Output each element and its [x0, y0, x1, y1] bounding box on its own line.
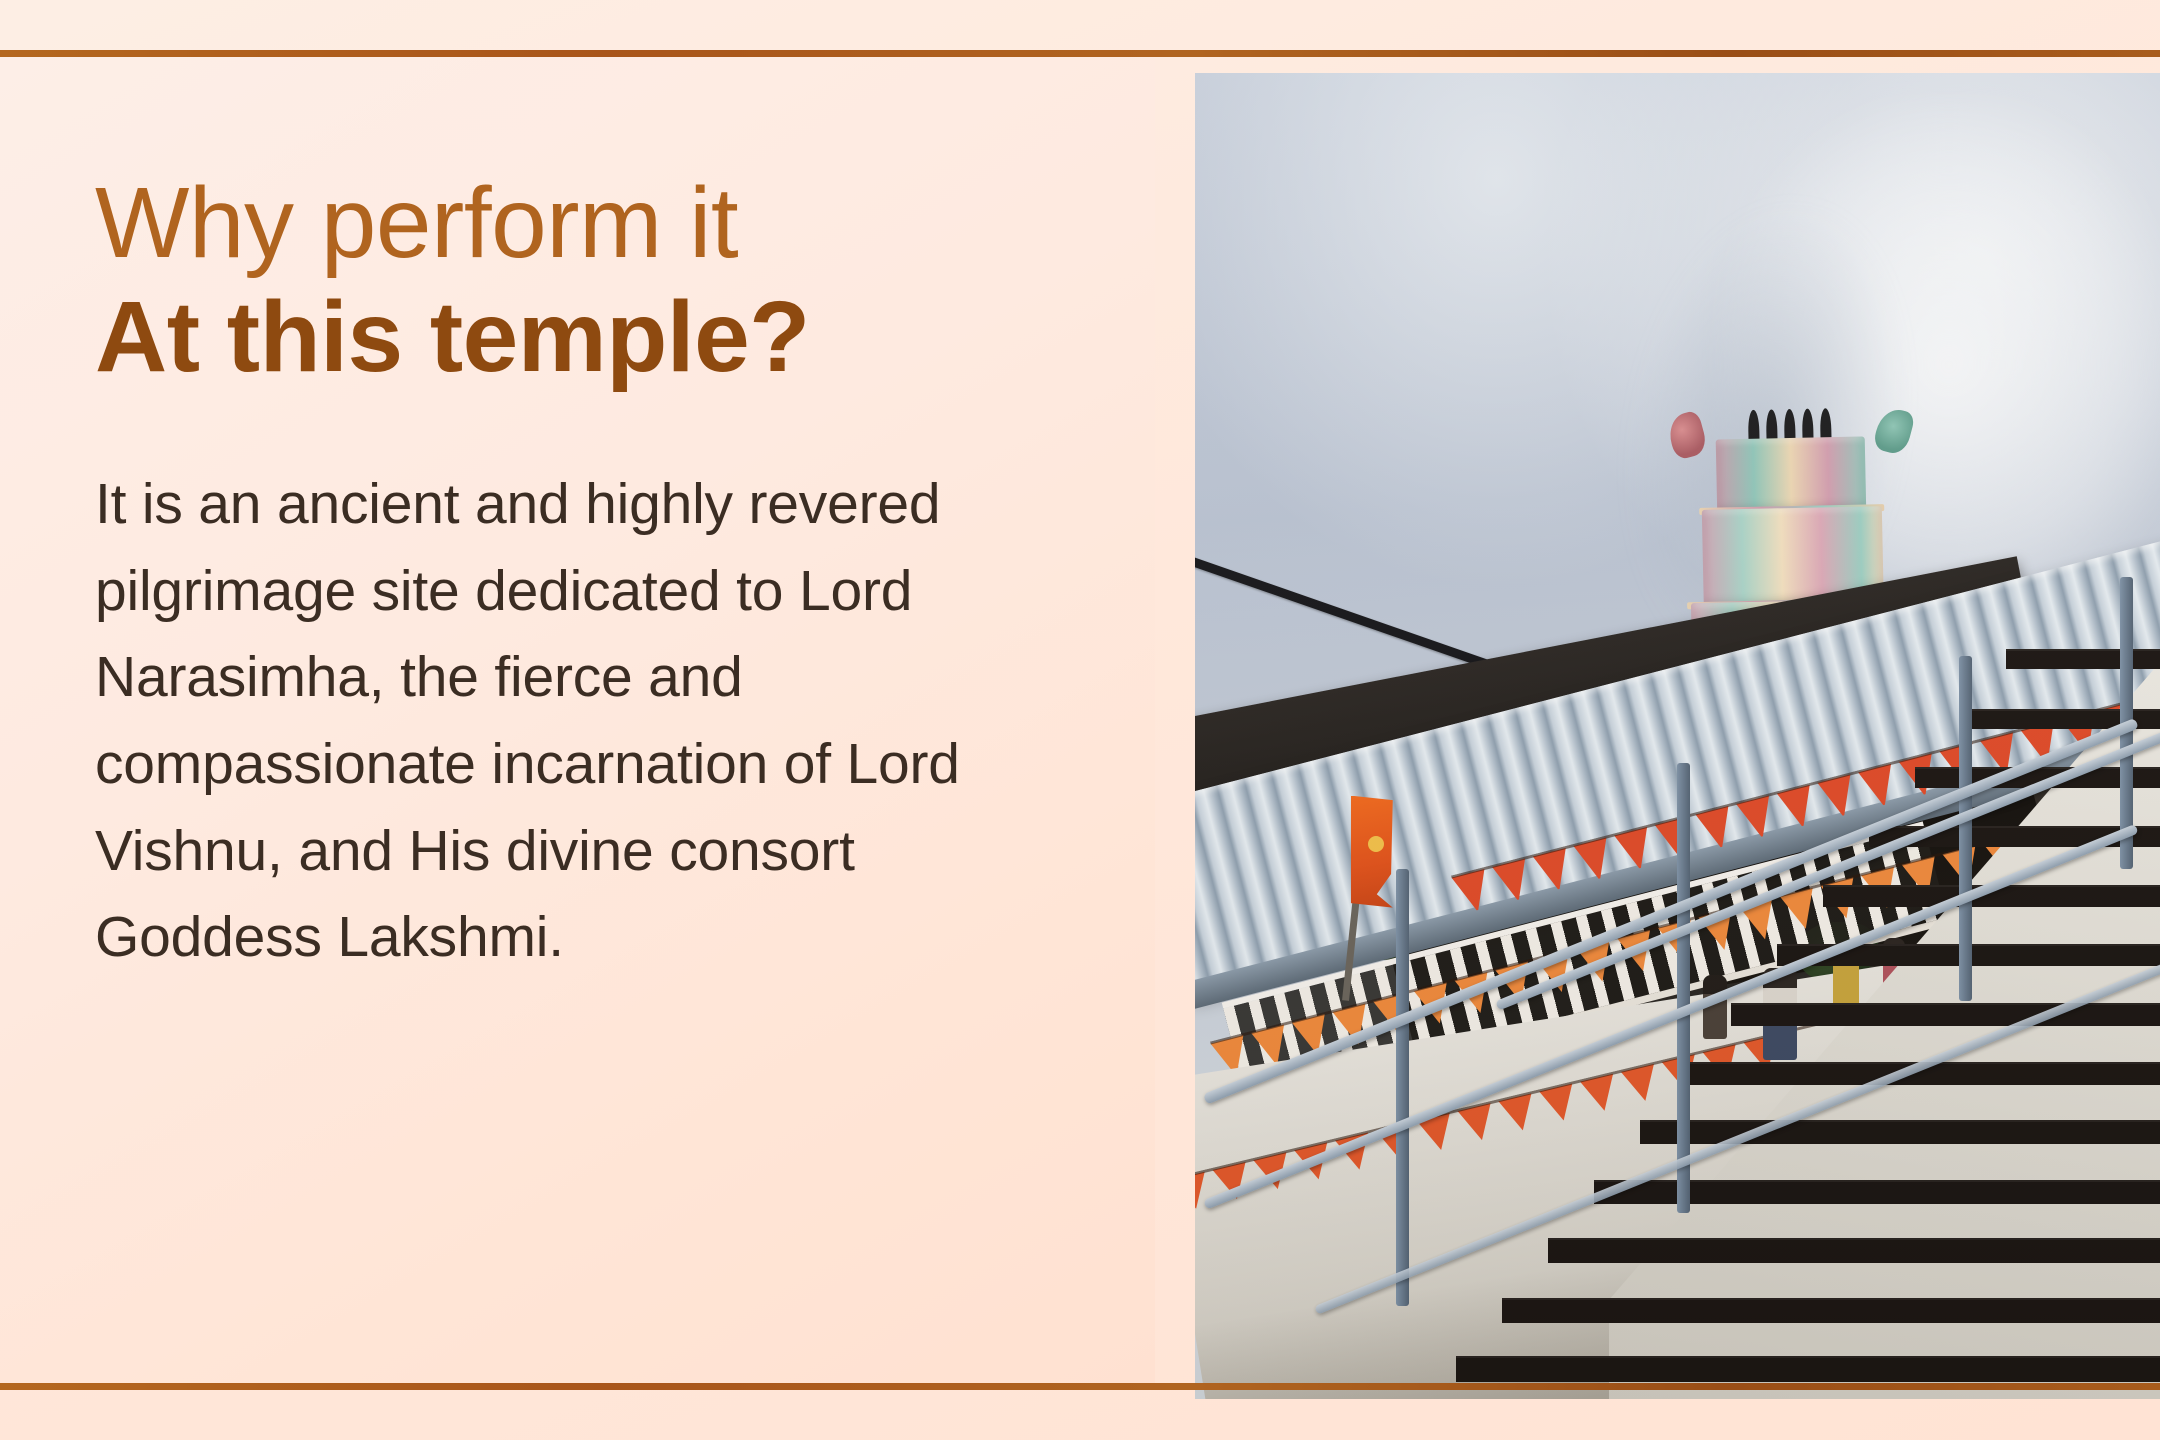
rail-post	[1396, 869, 1409, 1307]
stair-step	[1731, 1003, 2160, 1026]
gopuram-tier-5	[1716, 436, 1866, 515]
stair-step	[1502, 1298, 2160, 1323]
heading-line-accent: At this temple?	[95, 279, 1059, 395]
text-panel: Why perform it At this temple? It is an …	[0, 57, 1155, 1383]
rail-post	[1677, 763, 1690, 1214]
top-divider-rule	[0, 50, 2160, 57]
stair-step	[2006, 649, 2160, 669]
stair-step	[1640, 1120, 2160, 1144]
slide-canvas: Why perform it At this temple? It is an …	[0, 0, 2160, 1440]
heading-line-primary: Why perform it	[95, 167, 1059, 279]
gopuram-finial-left-icon	[1665, 409, 1709, 460]
stair-step	[1548, 1238, 2160, 1263]
page-title: Why perform it At this temple?	[95, 167, 1059, 395]
temple-photo	[1195, 73, 2160, 1399]
stair-step	[1456, 1356, 2160, 1382]
bottom-divider-rule	[0, 1383, 2160, 1390]
staircase-side-wall	[1609, 550, 2160, 1399]
rail-post	[1959, 656, 1972, 1001]
photo-stage	[1195, 73, 2160, 1399]
body-paragraph: It is an ancient and highly revered pilg…	[95, 461, 1059, 981]
gopuram-finial-right-icon	[1872, 405, 1916, 456]
